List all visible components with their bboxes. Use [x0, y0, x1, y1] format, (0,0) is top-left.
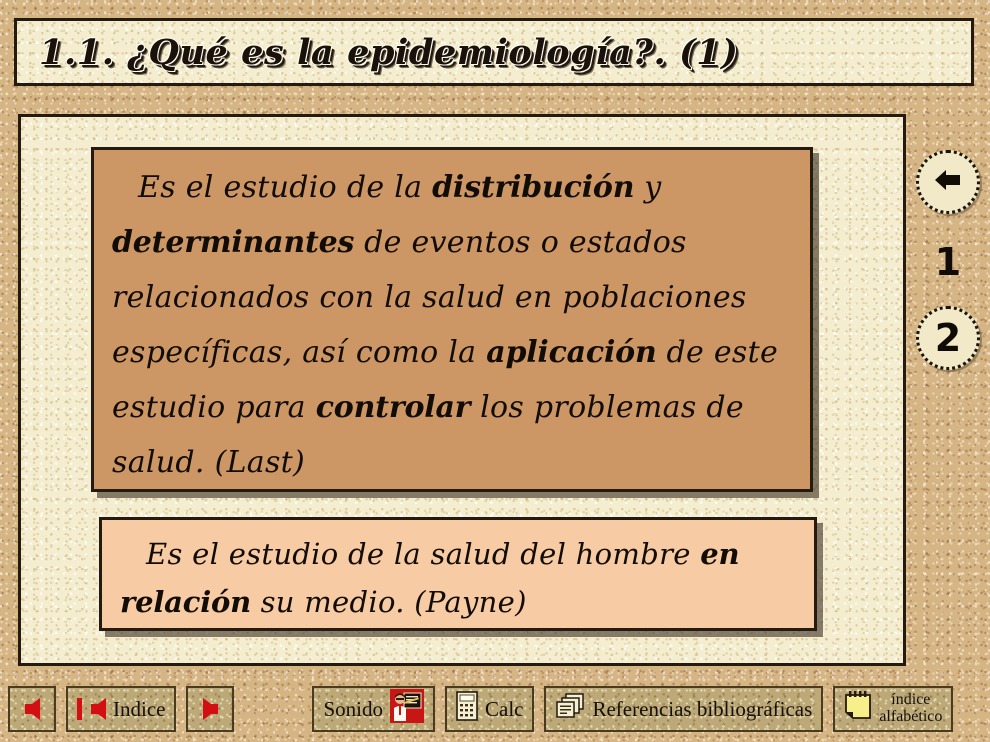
page-link-2[interactable]: 2 — [916, 306, 980, 370]
index-button-label: Indice — [113, 697, 165, 722]
previous-slide-button[interactable] — [8, 686, 56, 732]
definition-box-payne: Es el estudio de la salud del hombre en … — [99, 517, 817, 631]
back-button[interactable] — [916, 150, 980, 214]
first-page-bar-icon — [77, 698, 82, 720]
bottom-toolbar: Indice Sonido — [0, 676, 990, 742]
definition-line: determinantes de eventos o estados — [112, 215, 792, 270]
alphabetic-index-line2: alfabético — [879, 709, 942, 726]
definition-line: salud. (Last) — [112, 435, 792, 490]
definition-line: Es el estudio de la distribución y — [112, 160, 792, 215]
definition-line: específicas, así como la aplicación de e… — [112, 325, 792, 380]
red-right-arrow-icon — [203, 698, 218, 720]
sound-button-label: Sonido — [323, 697, 383, 722]
references-button[interactable]: Referencias bibliográficas — [544, 686, 823, 732]
definition-box-last: Es el estudio de la distribución y deter… — [91, 147, 813, 492]
definition-line: relacionados con la salud en poblaciones — [112, 270, 792, 325]
alphabetic-index-label: índice alfabético — [879, 692, 942, 726]
alphabetic-index-button[interactable]: índice alfabético — [833, 686, 953, 732]
page-link-2-label: 2 — [935, 316, 961, 360]
alphabetic-index-line1: índice — [879, 692, 942, 709]
red-left-arrow-icon — [25, 698, 40, 720]
next-slide-button[interactable] — [186, 686, 234, 732]
back-arrow-icon — [933, 165, 963, 199]
slide-title-bar: 1.1. ¿Qué es la epidemiología?. (1) — [14, 18, 974, 86]
definition-line: estudio para controlar los problemas de — [112, 380, 792, 435]
page-indicator-current: 1 — [935, 240, 961, 284]
teacher-blackboard-icon — [390, 689, 424, 729]
calc-button-label: Calc — [485, 697, 523, 722]
stacked-documents-icon — [555, 693, 585, 725]
slide-body-panel: Es el estudio de la distribución y deter… — [18, 114, 906, 666]
first-page-icon — [91, 698, 106, 720]
page-link-2-wrap: 2 — [916, 306, 980, 370]
references-button-label: Referencias bibliográficas — [592, 697, 812, 722]
page-title: 1.1. ¿Qué es la epidemiología?. (1) — [17, 32, 738, 73]
calculator-icon — [456, 691, 478, 727]
calc-button[interactable]: Calc — [445, 686, 534, 732]
index-button[interactable]: Indice — [66, 686, 176, 732]
yellow-notepad-icon — [844, 691, 872, 727]
definition-line: relación su medio. (Payne) — [120, 578, 796, 626]
definition-line: Es el estudio de la salud del hombre en — [120, 530, 796, 578]
sound-button[interactable]: Sonido — [312, 686, 435, 732]
page-navigator: 1 2 — [916, 150, 980, 370]
